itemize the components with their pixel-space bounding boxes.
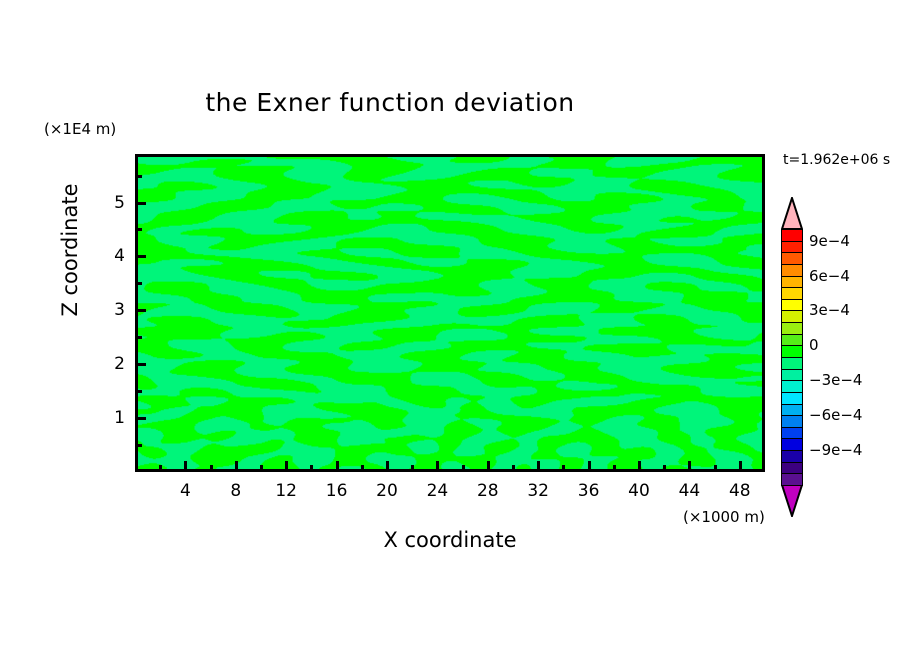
y-tick-label: 4 bbox=[101, 246, 125, 266]
x-axis-tick bbox=[688, 461, 691, 472]
colorbar-tick-label: 6e−4 bbox=[809, 267, 850, 285]
x-axis-tick bbox=[386, 461, 389, 472]
y-axis-tick bbox=[135, 336, 142, 339]
x-tick-label: 28 bbox=[477, 481, 499, 501]
y-axis-tick bbox=[135, 255, 146, 258]
x-axis-tick bbox=[310, 465, 313, 472]
contour-figure: the Exner function deviation (×1E4 m) (×… bbox=[0, 0, 904, 654]
y-axis-tick bbox=[135, 309, 146, 312]
page-title: the Exner function deviation bbox=[0, 88, 780, 117]
colorbar-tick-label: −6e−4 bbox=[809, 406, 862, 424]
colorbar-tick-label: −9e−4 bbox=[809, 441, 862, 459]
y-axis-tick bbox=[135, 282, 142, 285]
timestamp-label: t=1.962e+06 s bbox=[783, 152, 890, 168]
x-axis-unit-label: (×1000 m) bbox=[683, 508, 765, 526]
x-axis-tick bbox=[336, 461, 339, 472]
plot-area bbox=[135, 154, 765, 472]
x-tick-label: 32 bbox=[527, 481, 549, 501]
x-axis-tick bbox=[361, 465, 364, 472]
y-tick-label: 5 bbox=[101, 193, 125, 213]
x-tick-label: 40 bbox=[628, 481, 650, 501]
x-tick-label: 36 bbox=[578, 481, 600, 501]
x-axis-tick bbox=[562, 465, 565, 472]
x-axis-tick bbox=[436, 461, 439, 472]
x-axis-tick bbox=[462, 465, 465, 472]
contour-field bbox=[138, 157, 762, 469]
y-tick-label: 3 bbox=[101, 300, 125, 320]
y-axis-tick bbox=[135, 202, 146, 205]
x-axis-tick bbox=[512, 465, 515, 472]
x-axis-tick bbox=[714, 465, 717, 472]
y-axis-tick bbox=[135, 228, 142, 231]
x-axis-tick bbox=[613, 465, 616, 472]
x-tick-label: 20 bbox=[376, 481, 398, 501]
y-tick-label: 1 bbox=[101, 408, 125, 428]
x-axis-tick bbox=[663, 465, 666, 472]
x-tick-label: 16 bbox=[326, 481, 348, 501]
y-axis-tick bbox=[135, 417, 146, 420]
x-tick-label: 12 bbox=[275, 481, 297, 501]
colorbar-over-cap bbox=[781, 197, 803, 229]
x-tick-label: 44 bbox=[679, 481, 701, 501]
x-axis-tick bbox=[210, 465, 213, 472]
y-axis-tick bbox=[135, 175, 142, 178]
x-axis-tick bbox=[487, 461, 490, 472]
y-axis-title: Z coordinate bbox=[58, 150, 82, 350]
x-axis-tick bbox=[588, 461, 591, 472]
x-axis-tick bbox=[260, 465, 263, 472]
y-tick-label: 2 bbox=[101, 354, 125, 374]
x-tick-label: 48 bbox=[729, 481, 751, 501]
x-tick-label: 4 bbox=[180, 481, 191, 501]
x-axis-tick bbox=[159, 465, 162, 472]
x-tick-label: 8 bbox=[230, 481, 241, 501]
x-axis-tick bbox=[537, 461, 540, 472]
x-axis-title: X coordinate bbox=[135, 528, 765, 552]
y-axis-tick bbox=[135, 363, 146, 366]
x-axis-tick bbox=[235, 461, 238, 472]
x-axis-tick bbox=[638, 461, 641, 472]
x-axis-tick bbox=[184, 461, 187, 472]
x-tick-label: 24 bbox=[427, 481, 449, 501]
x-axis-tick bbox=[411, 465, 414, 472]
y-axis-tick bbox=[135, 390, 142, 393]
x-axis-tick bbox=[739, 461, 742, 472]
y-axis-tick bbox=[135, 444, 142, 447]
colorbar-tick-label: 0 bbox=[809, 336, 819, 354]
colorbar: 9e−46e−43e−40−3e−4−6e−4−9e−4 bbox=[781, 197, 803, 517]
colorbar-tick-label: −3e−4 bbox=[809, 371, 862, 389]
colorbar-under-cap bbox=[781, 485, 803, 517]
x-axis-tick bbox=[285, 461, 288, 472]
y-axis-unit-label: (×1E4 m) bbox=[44, 120, 116, 138]
colorbar-tick-label: 9e−4 bbox=[809, 232, 850, 250]
colorbar-tick-label: 3e−4 bbox=[809, 301, 850, 319]
